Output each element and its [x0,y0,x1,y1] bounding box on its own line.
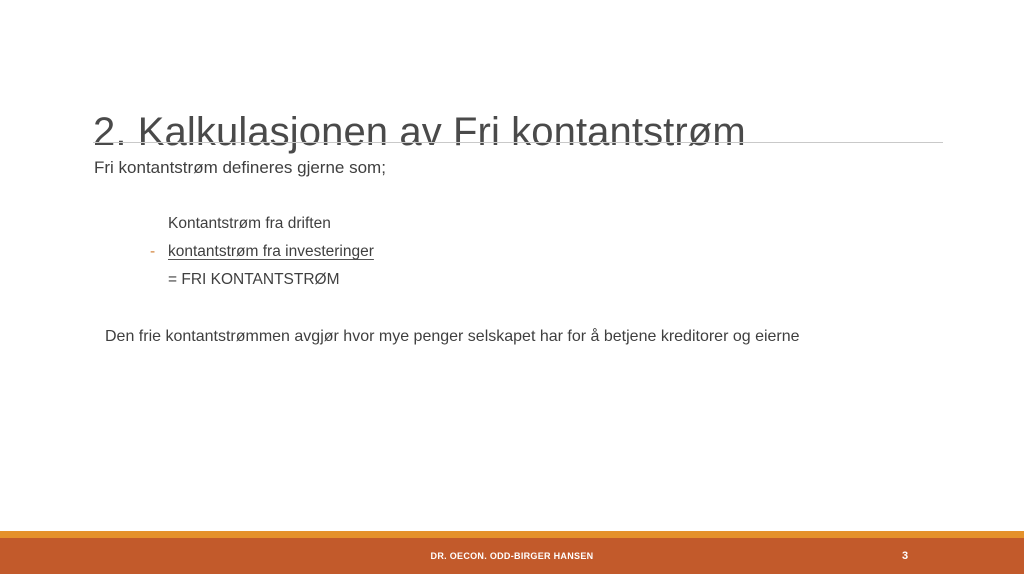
footer-author: DR. OECON. ODD-BIRGER HANSEN [0,551,1024,561]
slide-number: 3 [880,550,930,562]
operator-symbol: - [150,244,168,260]
formula-term: Kontantstrøm fra driften [168,216,331,232]
formula-term: kontantstrøm fra investeringer [168,244,374,260]
footer-accent-bar [0,531,1024,538]
lead-paragraph: Fri kontantstrøm defineres gjerne som; [94,157,386,180]
formula-row: = FRI KONTANTSTRØM [150,272,374,300]
slide: 2. Kalkulasjonen av Fri kontantstrøm Fri… [0,0,1024,574]
formula-block: Kontantstrøm fra driften - kontantstrøm … [150,216,374,300]
formula-row: - kontantstrøm fra investeringer [150,244,374,272]
closing-paragraph: Den frie kontantstrømmen avgjør hvor mye… [105,328,800,346]
formula-row: Kontantstrøm fra driften [150,216,374,244]
page-title: 2. Kalkulasjonen av Fri kontantstrøm [93,109,953,155]
formula-term: = FRI KONTANTSTRØM [168,272,340,288]
title-divider [93,142,943,143]
